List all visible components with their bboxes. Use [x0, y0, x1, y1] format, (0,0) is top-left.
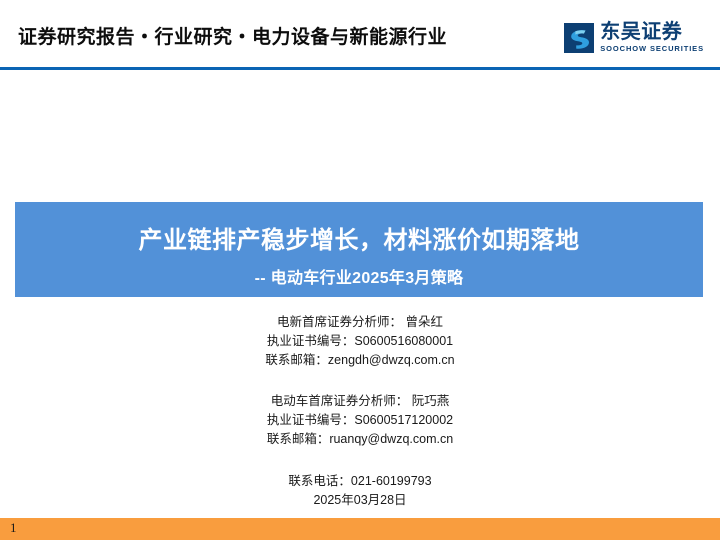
logo-text: 东吴证券 SOOCHOW SECURITIES: [600, 22, 704, 54]
footer-bar: [0, 518, 720, 540]
report-title: 产业链排产稳步增长，材料涨价如期落地: [139, 220, 580, 255]
soochow-securities-logo-mark-icon: [564, 23, 594, 53]
analyst-info-block: 电新首席证券分析师： 曾朵红 执业证书编号：S0600516080001 联系邮…: [0, 313, 720, 370]
report-date: 2025年03月28日: [0, 491, 720, 510]
page-header: 证券研究报告・行业研究・电力设备与新能源行业 东吴证券 SOOCHOW SECU…: [0, 0, 720, 70]
analyst-license: 执业证书编号：S0600517120002: [0, 411, 720, 430]
title-banner: 产业链排产稳步增长，材料涨价如期落地 -- 电动车行业2025年3月策略: [15, 202, 703, 297]
analyst-info-block: 电动车首席证券分析师： 阮巧燕 执业证书编号：S0600517120002 联系…: [0, 392, 720, 449]
page-number: 1: [10, 519, 17, 537]
analyst-email: 联系邮箱：zengdh@dwzq.com.cn: [0, 351, 720, 370]
contact-phone: 联系电话：021-60199793: [0, 472, 720, 491]
page-title: 证券研究报告・行业研究・电力设备与新能源行业: [18, 22, 447, 49]
report-subtitle: -- 电动车行业2025年3月策略: [255, 264, 464, 288]
analyst-email: 联系邮箱：ruanqy@dwzq.com.cn: [0, 430, 720, 449]
analyst-role: 电新首席证券分析师： 曾朵红: [0, 313, 720, 332]
analyst-license: 执业证书编号：S0600516080001: [0, 332, 720, 351]
logo-chinese-name: 东吴证券: [600, 22, 704, 43]
contact-info-block: 联系电话：021-60199793 2025年03月28日: [0, 472, 720, 510]
header-divider: [0, 67, 720, 70]
analyst-role: 电动车首席证券分析师： 阮巧燕: [0, 392, 720, 411]
logo-english-name: SOOCHOW SECURITIES: [600, 44, 704, 54]
brand-logo: 东吴证券 SOOCHOW SECURITIES: [564, 22, 704, 62]
